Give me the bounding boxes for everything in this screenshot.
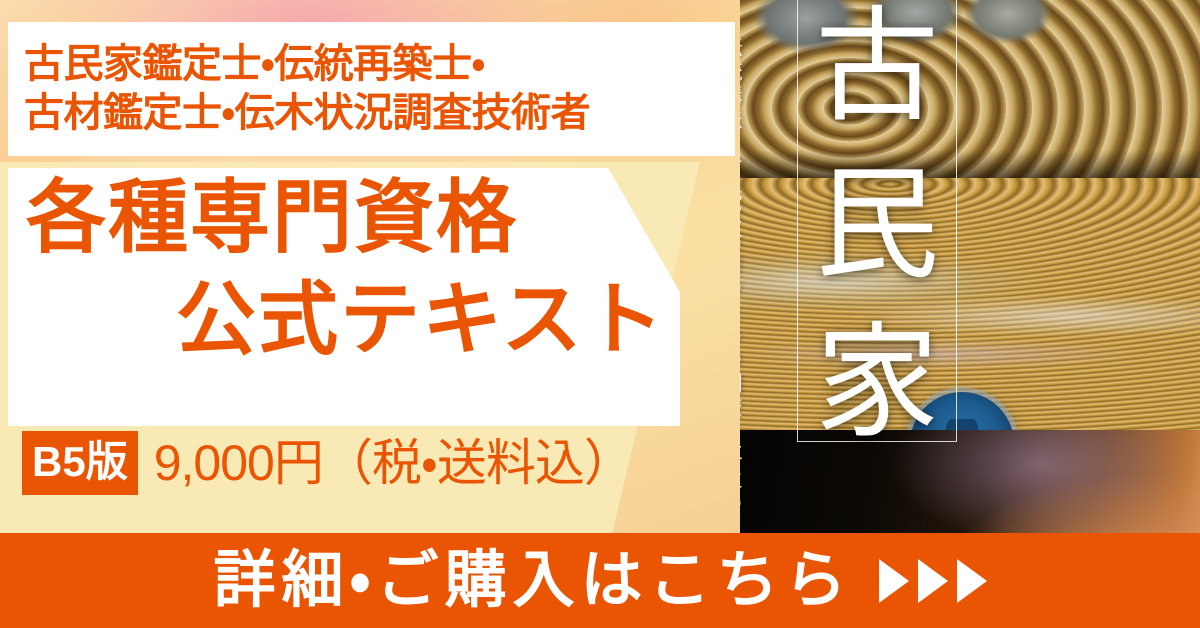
- cover-title-char-2: 民: [815, 164, 939, 288]
- chevron-right-icon: [957, 559, 987, 603]
- cover-subtitle-vertical: 伝統構法 古民家活用のための調査と再生の: [740, 36, 742, 556]
- price-amount: 9,000円（税・送料込）: [154, 438, 633, 488]
- cta-arrow-group: [879, 559, 987, 603]
- qualifications-line-1: 古民家鑑定士・伝統再築士・: [24, 40, 735, 89]
- cta-label: 詳細・ご購入はこちら: [213, 550, 852, 612]
- price-row: B5版 9,000円（税・送料込）: [22, 431, 633, 495]
- chevron-right-icon: [879, 559, 909, 603]
- qualifications-panel: 古民家鑑定士・伝統再築士・ 古材鑑定士・伝木状況調査技術者: [8, 22, 735, 156]
- qualifications-line-2: 古材鑑定士・伝木状況調査技術者: [24, 89, 735, 138]
- size-badge: B5版: [22, 431, 138, 495]
- chevron-right-icon: [918, 559, 948, 603]
- cover-title-char-3: 家: [815, 322, 939, 446]
- promo-banner: 古 民 家 伝統構法 古民家活用のための調査と再生の 古民家鑑定士・伝統再築士・…: [0, 0, 1200, 628]
- cta-bar[interactable]: 詳細・ご購入はこちら: [0, 533, 1200, 628]
- heading-line-2: 公式テキスト: [176, 280, 666, 360]
- heading-line-1: 各種専門資格: [26, 178, 518, 258]
- cover-title-char-1: 古: [815, 6, 939, 130]
- cover-title-vertical: 古 民 家: [798, 6, 956, 446]
